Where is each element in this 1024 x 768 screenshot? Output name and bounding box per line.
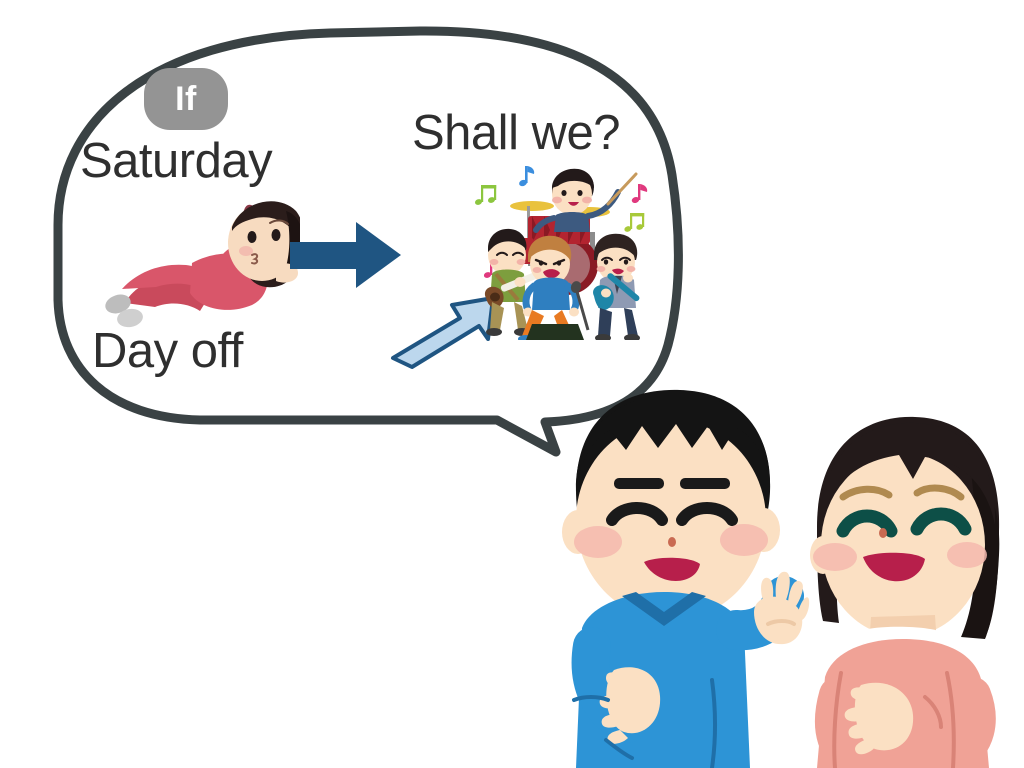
woman-pink-top-illustration — [795, 405, 1024, 768]
music-note-pink-right — [631, 184, 647, 204]
if-badge-label: If — [175, 80, 197, 119]
illustration-canvas: If Saturday Day off Shall we? — [0, 0, 1024, 768]
label-shall-we: Shall we? — [412, 105, 620, 161]
arrow-right-solid-icon — [288, 218, 403, 293]
if-badge: If — [144, 68, 228, 130]
music-note-green-right — [624, 213, 645, 233]
music-note-green-left — [474, 185, 496, 206]
label-saturday: Saturday — [80, 133, 272, 189]
label-day-off: Day off — [92, 323, 243, 379]
music-note-blue-top — [518, 166, 534, 187]
rock-band-illustration — [470, 160, 675, 340]
man-waving-illustration — [540, 380, 810, 768]
woman-lying-with-phone-illustration — [100, 185, 300, 330]
